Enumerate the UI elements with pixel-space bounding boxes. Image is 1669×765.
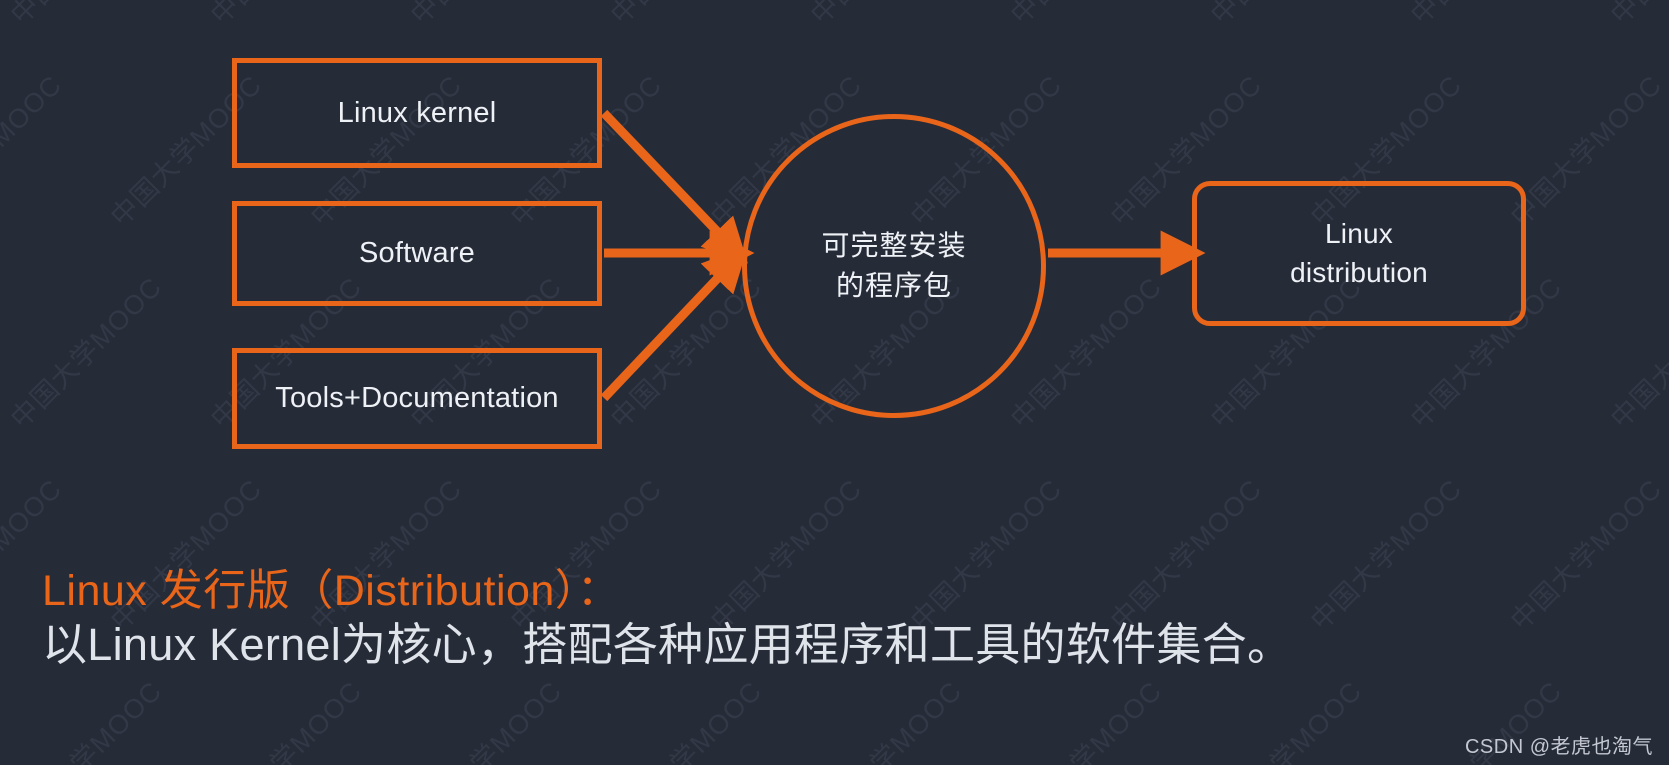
caption-heading: Linux 发行版（Distribution）： [42,567,1292,615]
slide-canvas: 中国大学MOOC中国大学MOOC中国大学MOOC中国大学MOOC中国大学MOOC… [0,0,1669,765]
arrow-kernel-to-package [604,113,733,248]
arrow-tools-to-package [604,262,733,398]
csdn-credit-watermark: CSDN @老虎也淘气 [1465,730,1653,759]
caption-body: 以Linux Kernel为核心，搭配各种应用程序和工具的软件集合。 [42,618,1292,671]
caption-block: Linux 发行版（Distribution）： 以Linux Kernel为核… [42,567,1292,671]
